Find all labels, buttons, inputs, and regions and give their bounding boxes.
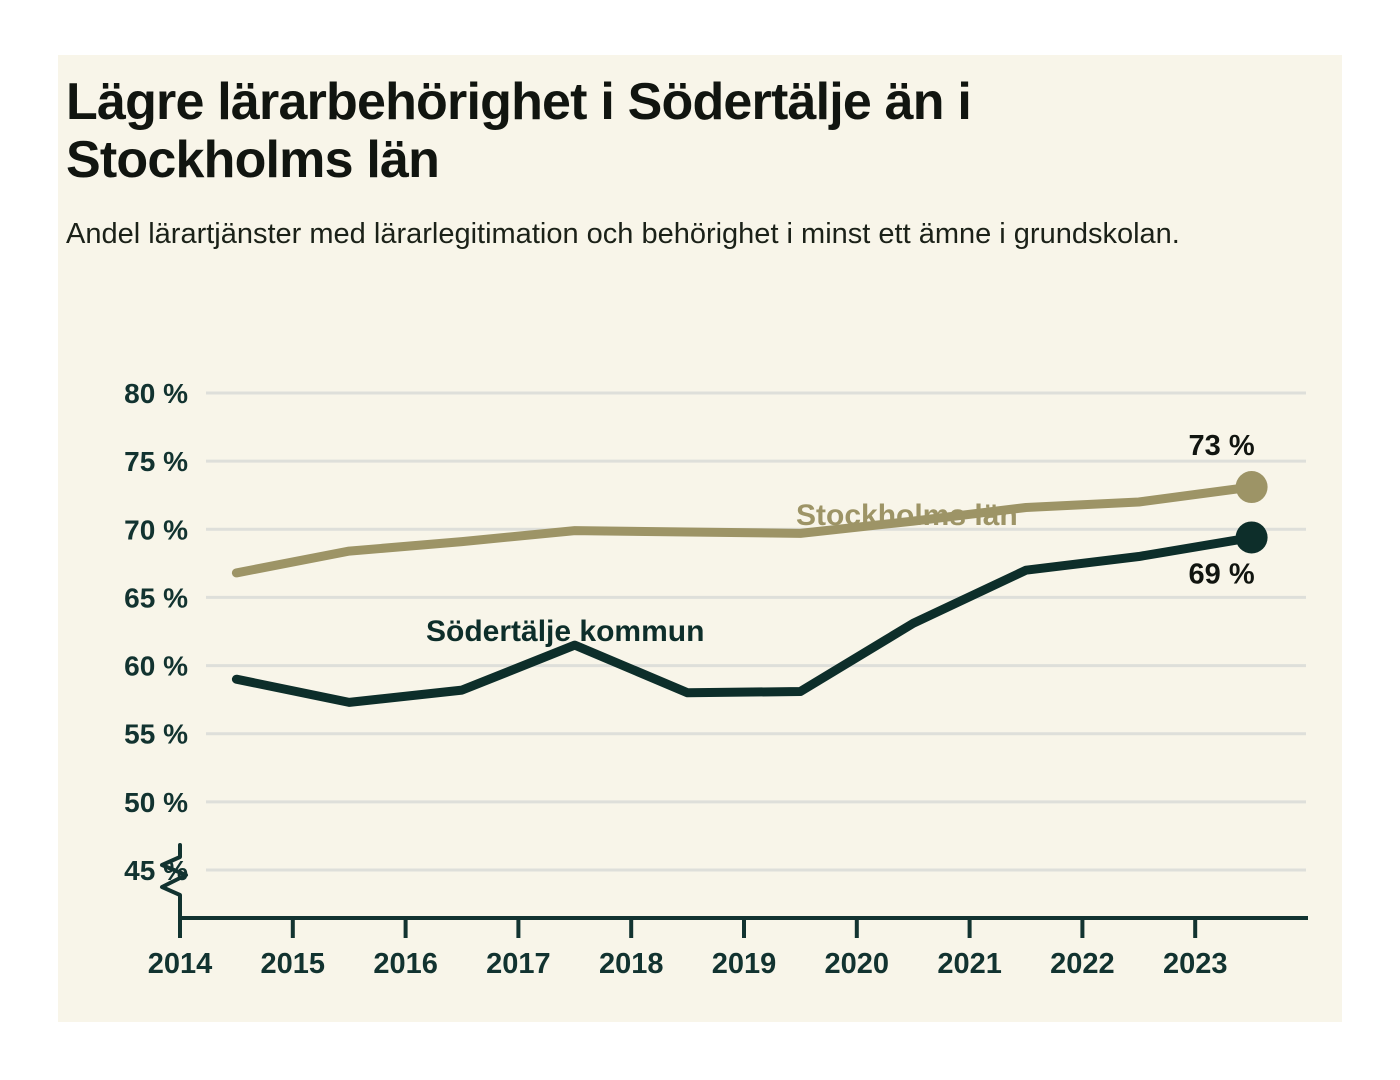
end-marker-stockholms-lan (1236, 471, 1268, 503)
line-chart-svg: 45 %50 %55 %60 %65 %70 %75 %80 % 2014201… (58, 55, 1342, 1022)
y-axis-tick-label: 70 % (124, 514, 188, 545)
x-axis-tick-label: 2022 (1050, 948, 1115, 980)
y-axis-tick-label: 80 % (124, 378, 188, 409)
x-axis-tick-label: 2015 (261, 948, 326, 980)
x-axis-ticks-group (180, 918, 1195, 938)
y-axis-tick-label: 60 % (124, 651, 188, 682)
end-value-label-sodertalje-kommun: 69 % (1189, 558, 1255, 590)
page-root: Lägre lärarbehörighet i Södertälje än i … (0, 0, 1400, 1080)
series-label-sodertalje-kommun: Södertälje kommun (426, 615, 704, 648)
y-axis-tick-label: 75 % (124, 446, 188, 477)
x-axis-tick-labels: 2014201520162017201820192020202120222023 (148, 948, 1228, 980)
x-axis-tick-label: 2019 (712, 948, 777, 980)
x-axis-tick-label: 2020 (825, 948, 890, 980)
end-value-label-stockholms-lan: 73 % (1189, 430, 1255, 462)
x-axis-tick-label: 2023 (1163, 948, 1228, 980)
x-axis-tick-label: 2021 (937, 948, 1002, 980)
end-marker-sodertalje-kommun (1236, 521, 1268, 553)
series-label-stockholms-lan: Stockholms län (796, 499, 1018, 532)
x-axis-tick-label: 2016 (373, 948, 438, 980)
y-axis-tick-label: 65 % (124, 582, 188, 613)
chart-card: Lägre lärarbehörighet i Södertälje än i … (58, 55, 1342, 1022)
y-axis-tick-label: 55 % (124, 719, 188, 750)
gridlines-group (206, 393, 1306, 870)
y-axis-tick-labels: 45 %50 %55 %60 %65 %70 %75 %80 % (124, 378, 188, 886)
y-axis-tick-label: 50 % (124, 787, 188, 818)
series-line-sodertalje-kommun (236, 538, 1251, 703)
x-axis-tick-label: 2014 (148, 948, 213, 980)
x-axis-tick-label: 2017 (486, 948, 551, 980)
x-axis-tick-label: 2018 (599, 948, 664, 980)
chart-plot-area: 45 %50 %55 %60 %65 %70 %75 %80 % 2014201… (58, 55, 1342, 1022)
